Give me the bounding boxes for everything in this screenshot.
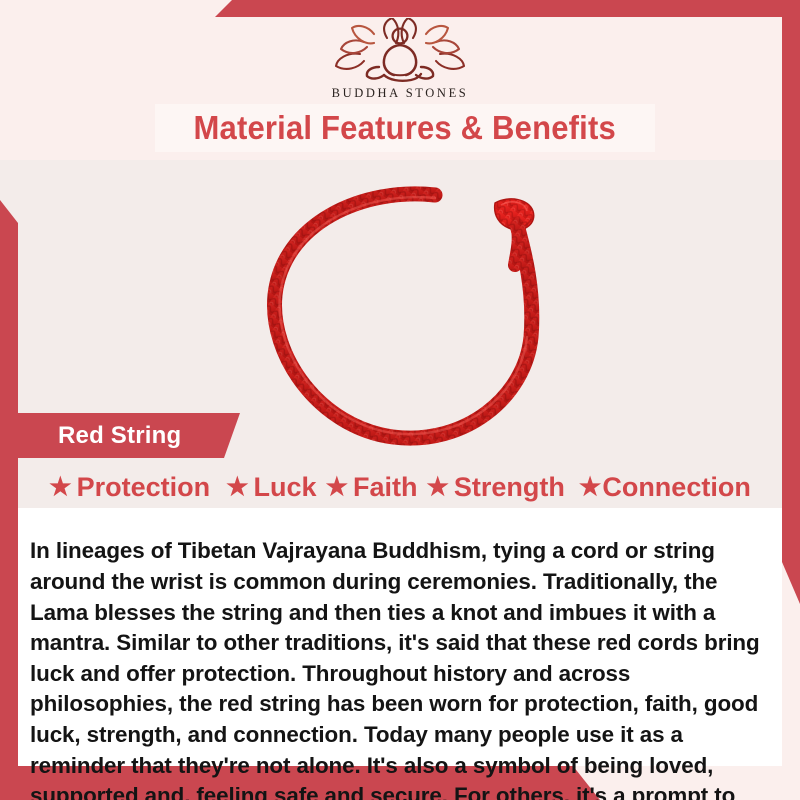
description-panel: In lineages of Tibetan Vajrayana Buddhis…: [18, 508, 782, 766]
page-title: Material Features & Benefits: [194, 109, 616, 147]
brand-name: BUDDHA STONES: [0, 86, 800, 101]
star-icon: ★: [226, 475, 248, 500]
section-ribbon-red-string: Red String: [18, 413, 240, 458]
star-icon: ★: [49, 475, 71, 500]
lotus-meditation-icon: [0, 18, 800, 84]
brand-logo: BUDDHA STONES: [0, 18, 800, 101]
description-text: In lineages of Tibetan Vajrayana Buddhis…: [30, 536, 778, 800]
infographic-canvas: BUDDHA STONES Material Features & Benefi…: [0, 0, 800, 800]
headline-banner: Material Features & Benefits: [155, 104, 655, 152]
star-icon: ★: [426, 475, 448, 500]
benefit-label: Strength: [454, 472, 565, 503]
benefit-label: Faith: [353, 472, 418, 503]
star-icon: ★: [326, 475, 348, 500]
benefit-item-strength: ★ Strength: [426, 472, 564, 503]
benefit-item-connection: ★ Connection: [579, 472, 751, 503]
benefit-label: Connection: [602, 472, 751, 503]
benefits-row: ★ Protection ★ Luck ★ Faith ★ Strength ★…: [18, 466, 782, 508]
product-image-red-string-bracelet: [245, 165, 575, 465]
ribbon-label: Red String: [58, 422, 181, 450]
benefit-label: Protection: [77, 472, 211, 503]
benefit-item-protection: ★ Protection: [49, 472, 210, 503]
benefit-item-faith: ★ Faith: [326, 472, 418, 503]
star-icon: ★: [579, 475, 601, 500]
decorative-left-red-strip: [0, 200, 18, 800]
benefit-item-luck: ★ Luck: [226, 472, 316, 503]
benefit-label: Luck: [254, 472, 317, 503]
